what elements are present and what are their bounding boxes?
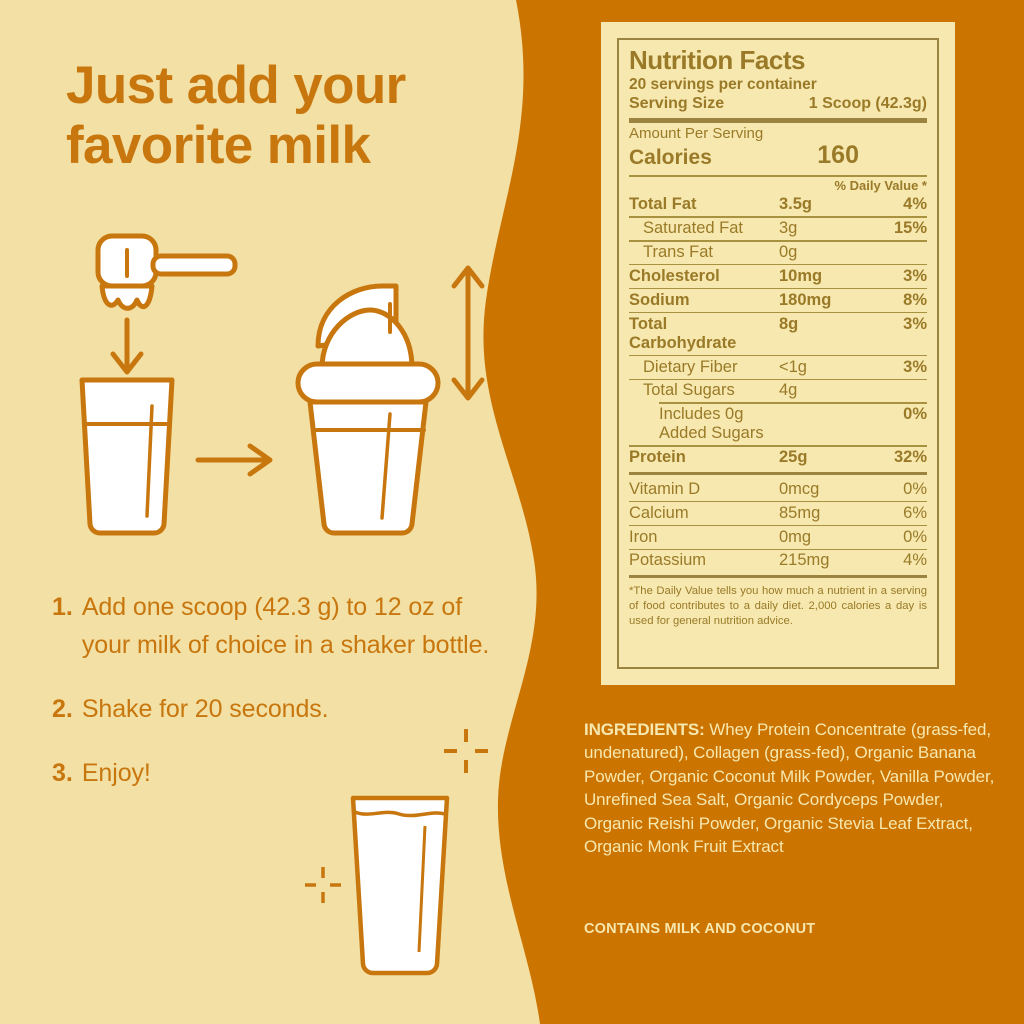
nutrient-rows: Total Fat3.5g4%Saturated Fat3g15%Trans F…	[629, 194, 927, 470]
step-number: 1.	[52, 588, 73, 664]
nutrient-name: Saturated Fat	[629, 219, 779, 238]
daily-value-header: % Daily Value *	[629, 177, 927, 194]
micronutrient-value: 215mg	[779, 551, 875, 570]
nutrient-row: Dietary Fiber<1g3%	[629, 356, 927, 379]
nutrient-daily-value: 3%	[875, 358, 927, 377]
nutrient-daily-value: 32%	[875, 448, 927, 467]
nutrient-row: Protein25g32%	[629, 447, 927, 470]
micronutrient-name: Vitamin D	[629, 480, 779, 499]
step-number: 3.	[52, 754, 73, 792]
micronutrient-row: Iron0mg0%	[629, 526, 927, 549]
nutrient-daily-value: 15%	[875, 219, 927, 238]
micronutrient-rows: Vitamin D0mcg0%Calcium85mg6%Iron0mg0%Pot…	[629, 478, 927, 572]
nutrient-daily-value: 0%	[875, 405, 927, 424]
shaker-bottle-icon	[298, 286, 438, 533]
nutrient-value: 4g	[779, 381, 875, 400]
glass-of-milk-icon	[82, 380, 172, 533]
ingredients-label: INGREDIENTS:	[584, 720, 705, 739]
serving-size-label: Serving Size	[629, 94, 724, 114]
step-number: 2.	[52, 690, 73, 728]
ingredients-list: Whey Protein Concentrate (grass-fed, und…	[584, 720, 994, 856]
scoop-icon	[98, 236, 235, 308]
list-item: 2. Shake for 20 seconds.	[52, 690, 492, 728]
nutrient-daily-value: 8%	[875, 291, 927, 310]
nutrition-facts-inner-border: Nutrition Facts 20 servings per containe…	[617, 38, 939, 669]
micronutrient-row: Calcium85mg6%	[629, 502, 927, 525]
nutrient-name: Total Sugars	[629, 381, 779, 400]
step-text: Enjoy!	[82, 754, 151, 792]
calories-label: Calories	[629, 146, 712, 170]
arrow-right-icon	[198, 446, 270, 474]
nutrient-name: Dietary Fiber	[629, 358, 779, 377]
nutrient-row: Sodium180mg8%	[629, 289, 927, 312]
calories-value: 160	[817, 141, 859, 170]
nutrient-row: Saturated Fat3g15%	[629, 218, 927, 241]
sparkle-icon	[438, 723, 494, 779]
step-text: Shake for 20 seconds.	[82, 690, 329, 728]
amount-per-serving-label: Amount Per Serving	[629, 126, 927, 143]
nutrient-row: Total Carbohydrate8g3%	[629, 313, 927, 355]
micronutrient-value: 85mg	[779, 504, 875, 523]
serving-size-row: Serving Size 1 Scoop (42.3g)	[629, 94, 927, 114]
arrow-down-icon	[113, 320, 141, 372]
nutrient-row: Total Sugars4g	[629, 380, 927, 403]
servings-per-container: 20 servings per container	[629, 76, 927, 94]
micronutrient-row: Potassium215mg4%	[629, 550, 927, 573]
nutrient-name: Protein	[629, 448, 779, 467]
micronutrient-value: 0mg	[779, 528, 875, 547]
nutrient-value: 3g	[779, 219, 875, 238]
nutrient-name: Sodium	[629, 291, 779, 310]
nutrient-name: Includes 0g Added Sugars	[629, 405, 779, 443]
micronutrient-daily-value: 6%	[875, 504, 927, 523]
left-instructions-panel: Just add your favorite milk	[0, 0, 520, 1024]
divider-medium	[629, 575, 927, 578]
double-arrow-vertical-icon	[454, 268, 482, 398]
divider-medium	[629, 472, 927, 475]
nutrient-name: Total Carbohydrate	[629, 315, 779, 353]
page-title: Just add your favorite milk	[66, 56, 496, 177]
nutrient-daily-value: 4%	[875, 195, 927, 214]
micronutrient-daily-value: 0%	[875, 480, 927, 499]
nutrient-value: 3.5g	[779, 195, 875, 214]
nutrient-name: Total Fat	[629, 195, 779, 214]
nutrient-row: Total Fat3.5g4%	[629, 194, 927, 217]
nutrient-row: Includes 0g Added Sugars0%	[629, 404, 927, 446]
nutrient-name: Cholesterol	[629, 267, 779, 286]
nutrient-value: 25g	[779, 448, 875, 467]
glass-of-milk-icon	[345, 792, 455, 982]
nutrient-daily-value: 3%	[875, 267, 927, 286]
micronutrient-name: Iron	[629, 528, 779, 547]
micronutrient-row: Vitamin D0mcg0%	[629, 478, 927, 501]
list-item: 3. Enjoy!	[52, 754, 492, 792]
micronutrient-daily-value: 0%	[875, 528, 927, 547]
nutrient-value: 10mg	[779, 267, 875, 286]
nutrient-value: 8g	[779, 315, 875, 334]
nutrient-row: Trans Fat0g	[629, 242, 927, 265]
nutrient-row: Cholesterol10mg3%	[629, 265, 927, 288]
nutrition-facts-label: Nutrition Facts 20 servings per containe…	[601, 22, 955, 685]
micronutrient-value: 0mcg	[779, 480, 875, 499]
nutrient-value: <1g	[779, 358, 875, 377]
ingredients-text: INGREDIENTS: Whey Protein Concentrate (g…	[584, 718, 1004, 859]
serving-size-value: 1 Scoop (42.3g)	[809, 94, 927, 114]
nutrient-daily-value: 3%	[875, 315, 927, 334]
step-text: Add one scoop (42.3 g) to 12 oz of your …	[82, 588, 492, 664]
micronutrient-daily-value: 4%	[875, 551, 927, 570]
mixing-instructions-illustration	[60, 228, 500, 538]
list-item: 1. Add one scoop (42.3 g) to 12 oz of yo…	[52, 588, 492, 664]
right-label-panel: Nutrition Facts 20 servings per containe…	[520, 0, 1024, 1024]
nutrient-name: Trans Fat	[629, 243, 779, 262]
divider-thick	[629, 118, 927, 123]
sparkle-icon	[300, 862, 346, 908]
micronutrient-name: Potassium	[629, 551, 779, 570]
nutrition-title: Nutrition Facts	[629, 47, 927, 75]
micronutrient-name: Calcium	[629, 504, 779, 523]
instruction-steps-list: 1. Add one scoop (42.3 g) to 12 oz of yo…	[52, 588, 492, 818]
daily-value-footnote: *The Daily Value tells you how much a nu…	[629, 584, 927, 629]
allergen-statement: CONTAINS MILK AND COCONUT	[584, 920, 1004, 940]
nutrient-value: 0g	[779, 243, 875, 262]
calories-row: Calories 160	[629, 141, 927, 170]
nutrient-value: 180mg	[779, 291, 875, 310]
